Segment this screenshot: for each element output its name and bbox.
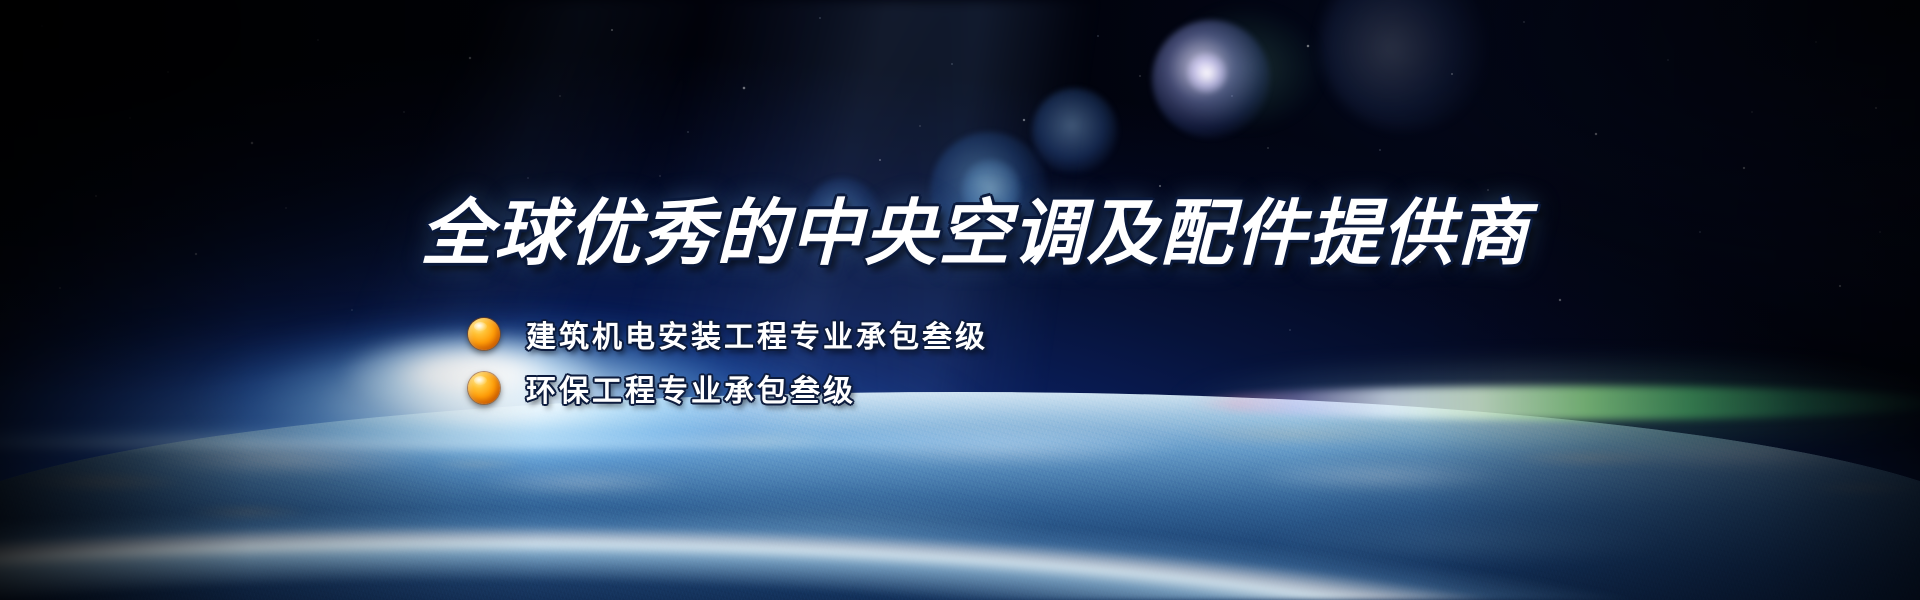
bullet-item-2-label: 环保工程专业承包叁级	[526, 366, 856, 410]
hero-banner: 全球优秀的中央空调及配件提供商 建筑机电安装工程专业承包叁级 环保工程专业承包叁…	[0, 0, 1920, 600]
orange-sphere-bullet-icon	[468, 372, 500, 404]
bullet-item-1: 建筑机电安装工程专业承包叁级	[468, 308, 1368, 360]
bullet-item-2: 环保工程专业承包叁级	[468, 362, 1368, 414]
orange-sphere-bullet-icon	[468, 318, 500, 350]
banner-headline: 全球优秀的中央空调及配件提供商	[0, 196, 1920, 274]
banner-content: 全球优秀的中央空调及配件提供商 建筑机电安装工程专业承包叁级 环保工程专业承包叁…	[0, 0, 1920, 600]
banner-bullet-list: 建筑机电安装工程专业承包叁级 环保工程专业承包叁级	[468, 308, 1368, 416]
bullet-item-1-label: 建筑机电安装工程专业承包叁级	[526, 312, 988, 356]
